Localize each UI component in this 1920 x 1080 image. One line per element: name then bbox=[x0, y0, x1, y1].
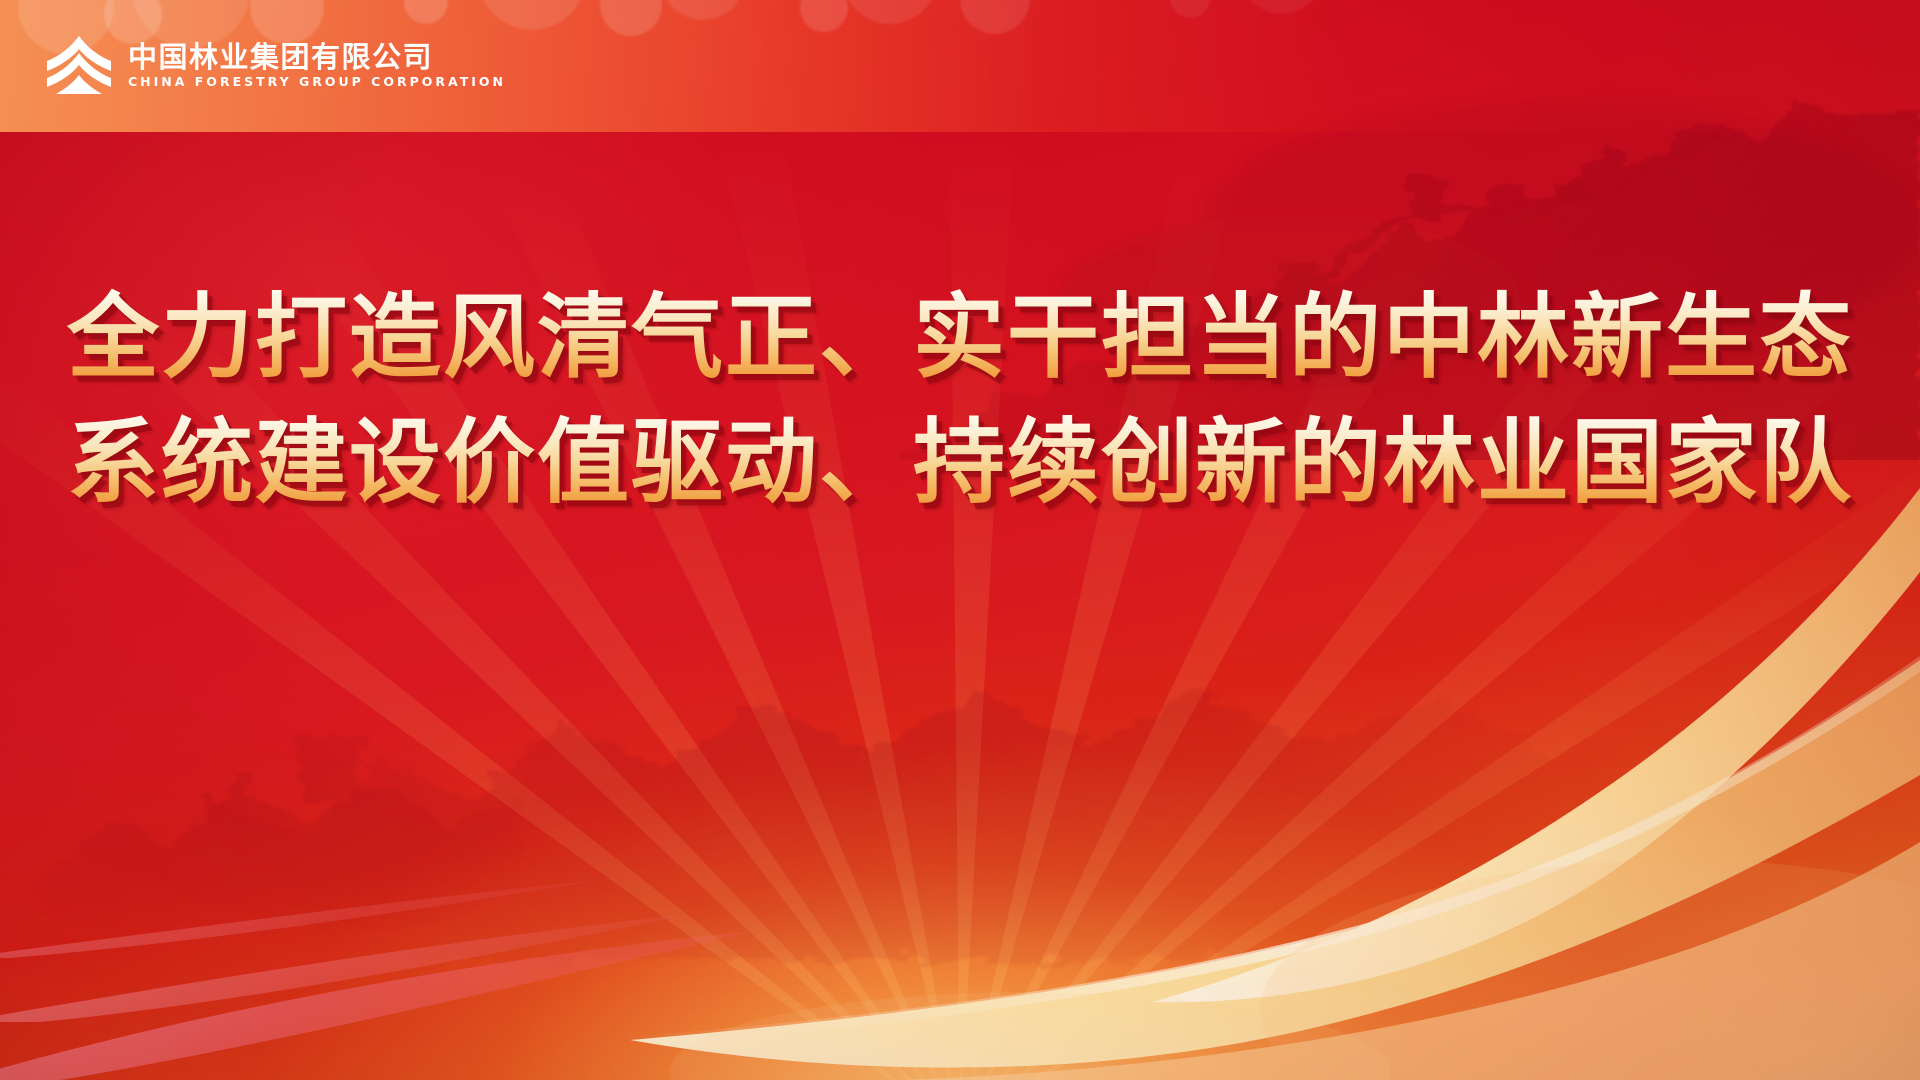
headline-block: 全力打造风清气正、实干担当的中林新生态 系统建设价值驱动、持续创新的林业国家队 bbox=[0, 286, 1920, 516]
logo-header-band: 中国林业集团有限公司 CHINA FORESTRY GROUP CORPORAT… bbox=[0, 0, 1920, 132]
headline-line-2: 系统建设价值驱动、持续创新的林业国家队 bbox=[67, 411, 1853, 516]
logo-text-block: 中国林业集团有限公司 CHINA FORESTRY GROUP CORPORAT… bbox=[128, 42, 506, 89]
logo-lockup[interactable]: 中国林业集团有限公司 CHINA FORESTRY GROUP CORPORAT… bbox=[46, 26, 506, 104]
pagoda-mountain-icon bbox=[46, 34, 112, 96]
background-vignette bbox=[0, 0, 1920, 1080]
banner-canvas: 中国林业集团有限公司 CHINA FORESTRY GROUP CORPORAT… bbox=[0, 0, 1920, 1080]
logo-name-cn: 中国林业集团有限公司 bbox=[128, 42, 506, 73]
logo-name-en: CHINA FORESTRY GROUP CORPORATION bbox=[128, 76, 506, 89]
headline-line-1: 全力打造风清气正、实干担当的中林新生态 bbox=[67, 286, 1853, 391]
